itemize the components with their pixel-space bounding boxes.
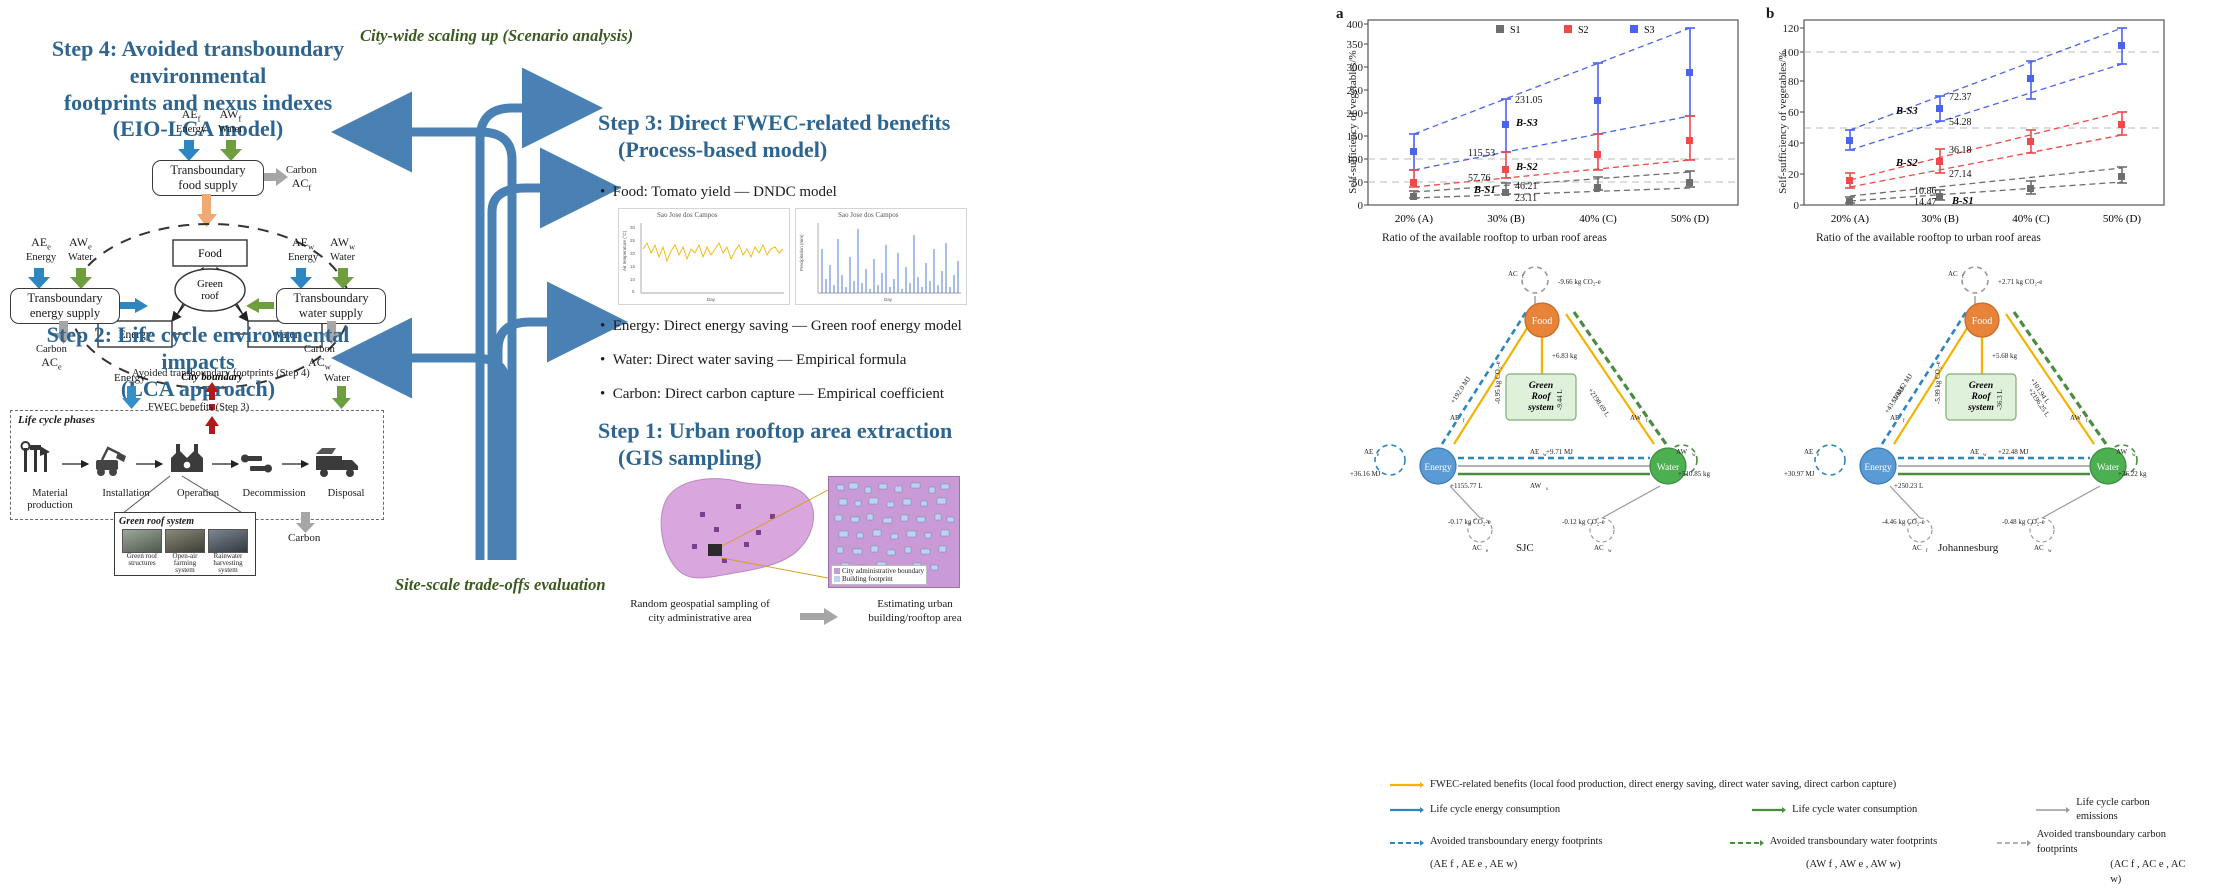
svg-text:-4.46 kg CO₂-e: -4.46 kg CO₂-e xyxy=(1882,518,1925,526)
svg-text:f: f xyxy=(2086,419,2088,424)
food-input-arrows xyxy=(170,140,250,162)
green-roof-system-title: Green roof system xyxy=(119,516,251,528)
aww-kind: Water xyxy=(330,252,355,264)
legend-text-fwec: FWEC-related benefits (local food produc… xyxy=(1430,778,1896,793)
legend-text-avoided-carbon: Avoided transboundary carbon footprints xyxy=(2037,828,2190,857)
bullet-dot: • xyxy=(600,184,605,200)
transboundary-energy-supply-box: Transboundaryenergy supply xyxy=(10,288,120,324)
chart-a-xlabel: Ratio of the available rooftop to urban … xyxy=(1382,232,1607,244)
svg-text:Water: Water xyxy=(1657,463,1680,473)
step1-caption-arrow xyxy=(800,608,840,626)
phase-label-0: Material production xyxy=(10,488,90,511)
legend-text-avoided-water: Avoided transboundary water footprints xyxy=(1770,835,1937,850)
bullet-dot-water: • xyxy=(600,352,605,368)
svg-text:40: 40 xyxy=(1788,138,1800,150)
step3-bullet-energy: • Energy: Direct energy saving — Green r… xyxy=(600,316,962,336)
aef-symbol: AE xyxy=(182,107,198,121)
svg-text:+36.16 MJ: +36.16 MJ xyxy=(1350,470,1381,478)
step3-mini-chart-left: Sao Jose dos Campos Air temperature (°C)… xyxy=(618,208,790,305)
svg-text:AW: AW xyxy=(1676,448,1687,456)
chart-b-ann-27: 27.14 xyxy=(1949,169,1972,180)
awf-subscript: f xyxy=(239,113,242,123)
system-label-1: Open-airfarming system xyxy=(165,553,205,575)
aee-kind: Energy xyxy=(26,252,56,264)
svg-text:+36.22 kg: +36.22 kg xyxy=(2118,470,2147,478)
svg-text:20: 20 xyxy=(630,251,636,256)
svg-text:+22.48 MJ: +22.48 MJ xyxy=(1998,448,2029,456)
aef-label: AEf Energy xyxy=(176,108,206,135)
chart-b-ann-54: 54.28 xyxy=(1949,117,1972,128)
chart-b-ylabel: Self-sufficiency of vegetables/% xyxy=(1777,37,1789,207)
chart-a-bs1: B-S1 xyxy=(1473,185,1496,196)
green-roof-system-box: Green roof system Green roofstructures O… xyxy=(114,512,256,576)
svg-text:100: 100 xyxy=(1347,154,1364,166)
svg-text:Day: Day xyxy=(884,297,893,302)
svg-text:w: w xyxy=(1608,549,1612,554)
svg-text:Day: Day xyxy=(707,297,716,302)
svg-text:w: w xyxy=(2132,453,2136,458)
aew-symbol: AE xyxy=(292,235,308,249)
awe-label: AWe Water xyxy=(68,236,93,263)
svg-text:Roof: Roof xyxy=(1971,392,1992,402)
legend-line-avoided-carbon xyxy=(1997,839,2031,847)
svg-text:AE: AE xyxy=(1364,448,1373,456)
sankey-legend: FWEC-related benefits (local food produc… xyxy=(1390,778,2190,888)
svg-text:+510.85 kg: +510.85 kg xyxy=(1678,470,1710,478)
awe-kind: Water xyxy=(68,252,93,264)
svg-text:120: 120 xyxy=(1783,23,1800,35)
avoided-footprints-label: Avoided transboundary footprints (Step 4… xyxy=(132,368,310,380)
chart-panel-a: a Self-sufficiency of vegetables/% SJC 0… xyxy=(1330,6,1750,256)
svg-text:+43.55 MJ: +43.55 MJ xyxy=(1883,385,1906,415)
svg-text:AC: AC xyxy=(1948,270,1958,278)
chart-a-ann-46: 46.21 xyxy=(1515,181,1538,192)
svg-text:AC: AC xyxy=(1508,270,1518,278)
svg-text:+9.71 MJ: +9.71 MJ xyxy=(1546,448,1573,456)
chart-b-bs3: B-S3 xyxy=(1895,106,1918,117)
chart-b-ann-10: 10.86 xyxy=(1914,186,1937,197)
svg-text:5: 5 xyxy=(632,289,635,294)
svg-text:Green: Green xyxy=(197,279,223,290)
aee-subscript: e xyxy=(47,241,51,251)
svg-text:AW: AW xyxy=(2116,448,2127,456)
svg-text:system: system xyxy=(1967,403,1994,413)
step1-title-line2: (GIS sampling) xyxy=(598,445,998,472)
svg-text:200: 200 xyxy=(1347,108,1364,120)
svg-text:e: e xyxy=(1817,453,1820,458)
svg-text:AW: AW xyxy=(2070,414,2081,422)
step1-caption-left: Random geospatial sampling ofcity admini… xyxy=(610,598,790,626)
legend-line-avoided-water xyxy=(1730,839,1764,847)
awe-symbol: AW xyxy=(69,235,88,249)
chart-panel-b: b Self-sufficiency of vegetables/% Johan… xyxy=(1760,6,2180,256)
chart-b-bs2: B-S2 xyxy=(1895,158,1918,169)
svg-text:+5.68 kg: +5.68 kg xyxy=(1992,352,2017,360)
aww-label: AWw Water xyxy=(330,236,355,263)
bullet-dot-energy: • xyxy=(600,318,605,334)
lca-carbon-out-label: Carbon xyxy=(288,532,320,544)
svg-text:-0.17 kg CO₂-e: -0.17 kg CO₂-e xyxy=(1448,518,1491,526)
svg-text:Roof: Roof xyxy=(1531,392,1552,402)
svg-text:400: 400 xyxy=(1347,19,1364,31)
chart-b-xtick-1: 30% (B) xyxy=(1921,213,1959,225)
svg-text:AC: AC xyxy=(1912,544,1922,552)
lca-energy-arrow xyxy=(122,386,142,410)
svg-text:-0.95 kg CO₂-e: -0.95 kg CO₂-e xyxy=(1494,361,1502,404)
svg-text:Air temperature (°C): Air temperature (°C) xyxy=(622,230,627,271)
system-label-2: Rainwaterharvestingsystem xyxy=(208,553,248,575)
svg-text:AC: AC xyxy=(1594,544,1604,552)
svg-text:AC: AC xyxy=(1472,544,1482,552)
svg-text:system: system xyxy=(1527,403,1554,413)
lca-water-in-label: Water xyxy=(324,372,350,384)
legend-line-water xyxy=(1752,806,1786,814)
svg-text:S3: S3 xyxy=(1644,25,1655,36)
chart-b-xtick-3: 50% (D) xyxy=(2103,213,2142,225)
awf-symbol: AW xyxy=(219,107,238,121)
svg-text:-36.3 L: -36.3 L xyxy=(1996,389,2004,410)
chart-b-xtick-0: 20% (A) xyxy=(1831,213,1870,225)
svg-text:+6.83 kg: +6.83 kg xyxy=(1552,352,1577,360)
awf-kind: Water xyxy=(218,124,243,136)
chart-a-ann-115: 115.53 xyxy=(1468,148,1495,159)
svg-text:w: w xyxy=(1692,453,1696,458)
svg-text:Green: Green xyxy=(1529,381,1553,391)
legend-sub-energy: (AE f , AE e , AE w) xyxy=(1430,859,1517,870)
svg-text:AE: AE xyxy=(1890,414,1899,422)
aew-kind: Energy xyxy=(288,252,318,264)
svg-text:25: 25 xyxy=(630,238,636,243)
legend-text-water: Life cycle water consumption xyxy=(1792,803,1917,818)
chart-a-bs2: B-S2 xyxy=(1515,162,1538,173)
awf-label: AWf Water xyxy=(218,108,243,135)
chart-a-xtick-0: 20% (A) xyxy=(1395,213,1434,225)
svg-text:80: 80 xyxy=(1788,76,1800,88)
sankey-left-food-node: Food xyxy=(1532,316,1553,327)
legend-sub-carbon: (AC f , AC e , AC w) xyxy=(2110,859,2185,885)
svg-text:f: f xyxy=(1522,275,1524,280)
svg-text:Water: Water xyxy=(2097,463,2120,473)
legend-line-fwec xyxy=(1390,781,1424,789)
sankey-left-caption: SJC xyxy=(1516,542,1534,554)
svg-text:roof: roof xyxy=(201,291,219,302)
svg-text:w: w xyxy=(1983,453,1987,458)
phase-label-4: Disposal xyxy=(314,488,378,511)
svg-text:AC: AC xyxy=(2034,544,2044,552)
svg-text:Energy: Energy xyxy=(1864,463,1892,473)
chart-a-xtick-2: 40% (C) xyxy=(1579,213,1617,225)
aww-subscript: w xyxy=(349,241,355,251)
panel-a-label: a xyxy=(1336,6,1344,23)
svg-text:Food: Food xyxy=(198,248,222,260)
svg-text:w: w xyxy=(2048,549,2052,554)
svg-text:+2198.69 L: +2198.69 L xyxy=(1586,387,1611,419)
svg-text:Energy: Energy xyxy=(1424,463,1452,473)
chart-a-ann-231: 231.05 xyxy=(1515,95,1543,106)
legend-text-footprint: Building footprint xyxy=(842,575,893,583)
svg-text:AW: AW xyxy=(1630,414,1641,422)
svg-text:150: 150 xyxy=(1347,131,1364,143)
energy-input-arrows xyxy=(22,268,102,290)
chart-b-plot: 02040 6080100120 xyxy=(1804,20,2184,220)
svg-text:S1: S1 xyxy=(1510,25,1521,36)
step1-building-footprint-inset: City administrative boundary Building fo… xyxy=(828,476,960,588)
aee-symbol: AE xyxy=(31,235,47,249)
chart-a-ann-23: 23.11 xyxy=(1515,193,1537,204)
step3-bullet-carbon: • Carbon: Direct carbon capture — Empiri… xyxy=(600,384,944,404)
chart-a-xtick-3: 50% (D) xyxy=(1671,213,1710,225)
food-supply-label: Transboundaryfood supply xyxy=(170,163,245,193)
lca-carbon-out-arrow xyxy=(296,512,316,534)
step3-bullet-carbon-text: Carbon: Direct carbon capture — Empirica… xyxy=(613,386,944,402)
step3-bullet-food-text: Food: Tomato yield — DNDC model xyxy=(613,184,837,200)
svg-text:300: 300 xyxy=(1347,62,1364,74)
aef-subscript: f xyxy=(198,113,201,123)
chart-b-xlabel: Ratio of the available rooftop to urban … xyxy=(1816,232,2041,244)
step1-title: Step 1: Urban rooftop area extraction (G… xyxy=(598,418,998,472)
sankey-johannesburg: Food Green Roof system Energy Water ACf … xyxy=(1770,262,2200,562)
svg-text:15: 15 xyxy=(630,264,636,269)
legend-line-carbon xyxy=(2036,806,2070,814)
acf-subscript: f xyxy=(308,182,311,192)
step3-bullet-water-text: Water: Direct water saving — Empirical f… xyxy=(613,352,907,368)
svg-text:f: f xyxy=(1926,549,1928,554)
legend-text-avoided-energy: Avoided transboundary energy footprints xyxy=(1430,835,1603,850)
svg-text:10: 10 xyxy=(630,277,636,282)
legend-line-avoided-energy xyxy=(1390,839,1424,847)
svg-text:-0.12 kg CO₂-e: -0.12 kg CO₂-e xyxy=(1562,518,1605,526)
step3-title-line2: (Process-based model) xyxy=(598,137,998,164)
chart-b-xtick-2: 40% (C) xyxy=(2012,213,2050,225)
svg-text:60: 60 xyxy=(1788,107,1800,119)
svg-text:-5.99 kg CO₂-e: -5.99 kg CO₂-e xyxy=(1934,361,1942,404)
svg-text:f: f xyxy=(1962,275,1964,280)
system-label-0: Green roofstructures xyxy=(122,553,162,575)
svg-text:30: 30 xyxy=(630,225,636,230)
svg-text:e: e xyxy=(1486,549,1489,554)
legend-swatch-boundary xyxy=(834,568,840,574)
step1-caption-right: Estimating urbanbuilding/rooftop area xyxy=(845,598,985,626)
aew-subscript: w xyxy=(308,241,314,251)
svg-text:AE: AE xyxy=(1804,448,1813,456)
aee-label: AEe Energy xyxy=(26,236,56,263)
water-to-city-arrow xyxy=(246,298,276,314)
aww-symbol: AW xyxy=(330,235,349,249)
svg-text:50: 50 xyxy=(1352,177,1364,189)
svg-text:-0.48 kg CO₂-e: -0.48 kg CO₂-e xyxy=(2002,518,2045,526)
legend-swatch-footprint xyxy=(834,576,840,582)
chart-a-plot: 050100 150200250 300350400 S1 S2 S3 xyxy=(1368,20,1748,220)
chart-b-ann-72: 72.37 xyxy=(1949,92,1972,103)
svg-text:f: f xyxy=(1903,419,1905,424)
svg-text:Green: Green xyxy=(1969,381,1993,391)
step3-bullet-water: • Water: Direct water saving — Empirical… xyxy=(600,350,906,370)
svg-text:0: 0 xyxy=(1794,200,1800,212)
legend-text-energy: Life cycle energy consumption xyxy=(1430,803,1560,818)
chart-a-xtick-1: 30% (B) xyxy=(1487,213,1525,225)
chart-b-bs1: B-S1 xyxy=(1951,196,1974,207)
svg-text:+1155.77 L: +1155.77 L xyxy=(1450,482,1482,490)
water-supply-label: Transboundarywater supply xyxy=(293,291,368,321)
step3-bullet-energy-text: Energy: Direct energy saving — Green roo… xyxy=(613,318,962,334)
energy-to-city-arrow xyxy=(120,298,150,314)
svg-text:f: f xyxy=(1463,419,1465,424)
svg-text:250: 250 xyxy=(1347,85,1364,97)
sankey-sjc: Food Green Roof system Energy Water ACf … xyxy=(1330,262,1760,562)
step3-bullet-food: • Food: Tomato yield — DNDC model xyxy=(600,182,837,202)
svg-text:+2.71 kg CO₂-e: +2.71 kg CO₂-e xyxy=(1998,278,2042,286)
svg-text:-9.66 kg CO₂-e: -9.66 kg CO₂-e xyxy=(1558,278,1601,286)
svg-text:s: s xyxy=(1546,487,1548,492)
svg-text:AE: AE xyxy=(1530,448,1539,456)
panel-b-label: b xyxy=(1766,6,1774,23)
aef-kind: Energy xyxy=(176,124,206,136)
chart-b-ann-36: 36.18 xyxy=(1949,145,1972,156)
svg-text:Precipitation (mm): Precipitation (mm) xyxy=(799,234,804,271)
svg-text:350: 350 xyxy=(1347,39,1364,51)
greenroof-connector xyxy=(118,476,248,516)
lca-water-arrow xyxy=(332,386,352,410)
svg-text:AE: AE xyxy=(1450,414,1459,422)
step4-title-line1: Step 4: Avoided transboundary environmen… xyxy=(18,36,378,90)
water-input-arrows xyxy=(284,268,364,290)
step1-map-legend: City administrative boundary Building fo… xyxy=(831,565,927,585)
awe-subscript: e xyxy=(88,241,92,251)
sankey-right-caption: Johannesburg xyxy=(1938,542,1998,554)
step2-lca-diagram: Energy Water Avoided transboundary footp… xyxy=(6,372,386,572)
acf-symbol: AC xyxy=(292,176,309,190)
svg-text:S2: S2 xyxy=(1578,25,1589,36)
legend-text-boundary: City administrative boundary xyxy=(842,567,924,575)
legend-text-carbon: Life cycle carbon emissions xyxy=(2076,796,2190,825)
system-thumb-structures xyxy=(122,529,162,553)
step3-title: Step 3: Direct FWEC-related benefits (Pr… xyxy=(598,110,998,164)
aew-label: AEw Energy xyxy=(288,236,318,263)
chart-b-ann-14: 14.47 xyxy=(1914,197,1937,208)
transboundary-water-supply-box: Transboundarywater supply xyxy=(276,288,386,324)
system-thumb-rainwater xyxy=(208,529,248,553)
svg-text:-9.44 L: -9.44 L xyxy=(1556,389,1564,410)
sankey-right-food-node: Food xyxy=(1972,316,1993,327)
bullet-dot-carbon: • xyxy=(600,386,605,402)
svg-text:0: 0 xyxy=(1358,200,1364,212)
step3-title-line1: Step 3: Direct FWEC-related benefits xyxy=(598,110,998,137)
step1-title-line1: Step 1: Urban rooftop area extraction xyxy=(598,418,998,445)
svg-text:f: f xyxy=(1646,419,1648,424)
chart-a-ann-57: 57.76 xyxy=(1468,173,1491,184)
legend-sub-water: (AW f , AW e , AW w) xyxy=(1806,859,1901,870)
transboundary-food-supply-box: Transboundaryfood supply xyxy=(152,160,264,196)
svg-text:AW: AW xyxy=(1530,482,1541,490)
system-thumb-farming xyxy=(165,529,205,553)
acf-label: Carbon ACf xyxy=(286,165,317,192)
svg-text:e: e xyxy=(1377,453,1380,458)
chart-a-bs3: B-S3 xyxy=(1515,118,1538,129)
step3-mini-chart-right: Sao Jose dos Campos Precipitation (mm) D… xyxy=(795,208,967,305)
energy-supply-label: Transboundaryenergy supply xyxy=(27,291,102,321)
svg-text:+250.23 L: +250.23 L xyxy=(1894,482,1923,490)
legend-line-energy xyxy=(1390,806,1424,814)
svg-text:20: 20 xyxy=(1788,169,1800,181)
svg-text:AE: AE xyxy=(1970,448,1979,456)
svg-text:100: 100 xyxy=(1783,47,1800,59)
life-cycle-phases-label: Life cycle phases xyxy=(18,414,95,426)
svg-text:+30.97 MJ: +30.97 MJ xyxy=(1784,470,1815,478)
